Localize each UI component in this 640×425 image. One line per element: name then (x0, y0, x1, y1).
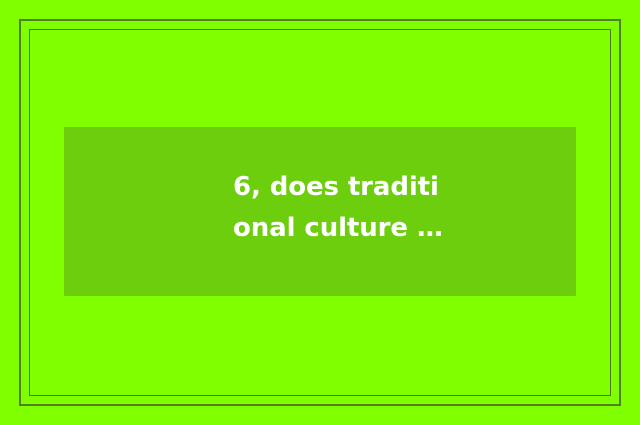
slide-canvas: 6, does traditi onal culture … (0, 0, 640, 425)
slide-text-block: 6, does traditi onal culture … (233, 167, 563, 249)
slide-text-line-1: 6, does traditi (233, 167, 563, 208)
slide-text-line-2: onal culture … (233, 208, 563, 249)
content-panel: 6, does traditi onal culture … (64, 127, 576, 296)
